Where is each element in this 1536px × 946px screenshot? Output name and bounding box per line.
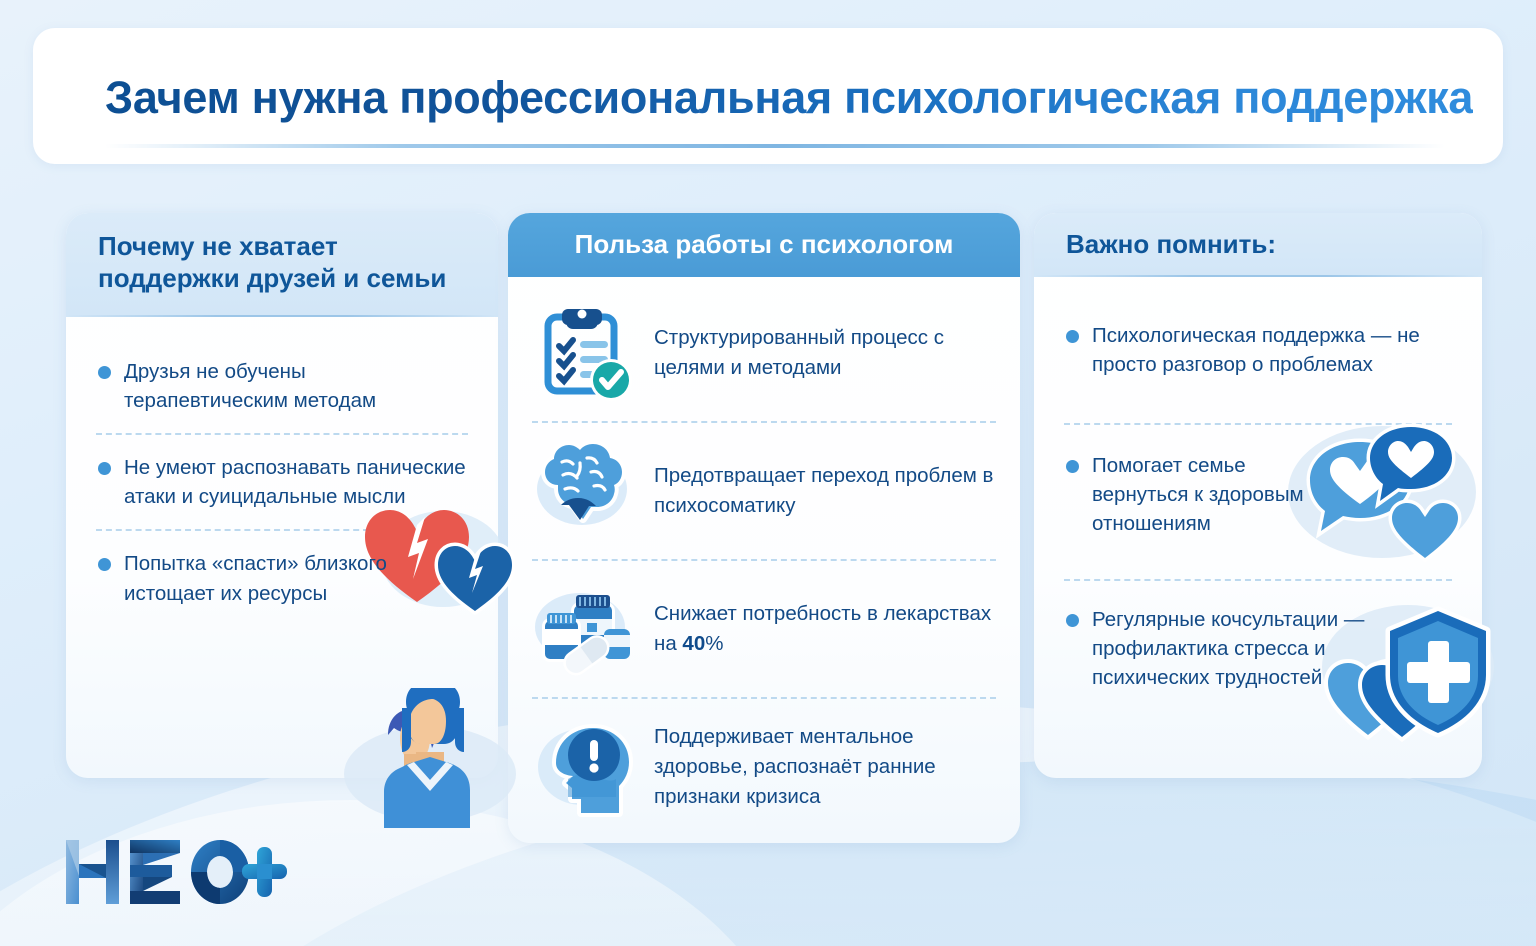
list-item: Попытка «спасти» близкого истощает их ре…: [94, 531, 470, 625]
clipboard-checklist-icon: [532, 301, 636, 405]
panel-why-friends-not-enough: Почему не хватает поддержки друзей и сем…: [66, 213, 498, 778]
list-item: Психологическая поддержка — не просто ра…: [1062, 303, 1454, 397]
bullet-dot-icon: [98, 462, 111, 475]
infographic-root: Зачем нужна профессиональная психологиче…: [0, 0, 1536, 946]
right-panel-list: Психологическая поддержка — не просто ра…: [1034, 277, 1482, 710]
bullet-dot-icon: [1066, 460, 1079, 473]
benefit-row: Поддерживает ментальное здоровье, распоз…: [508, 699, 1020, 835]
header-divider: [105, 144, 1445, 148]
benefit-row: Структурированный процесс с целями и мет…: [508, 277, 1020, 421]
list-item: Не умеют распознавать панические атаки и…: [94, 435, 470, 529]
panel-benefits-of-psychologist: Польза работы с психологом: [508, 213, 1020, 843]
benefit-label: Структурированный процесс с целями и мет…: [654, 323, 998, 382]
pills-bottles-icon: [532, 577, 636, 681]
logo-neo-plus: [62, 836, 292, 908]
panel-important-to-remember: Важно помнить: Психологическая поддержка…: [1034, 213, 1482, 778]
benefit-row: Снижает потребность в лекарствах на 40%: [508, 561, 1020, 697]
list-item-label: Регулярные кочсультации — профилактика с…: [1092, 605, 1392, 692]
logo-letter-e: [130, 840, 180, 904]
middle-panel-title: Польза работы с психологом: [575, 229, 954, 261]
page-title: Зачем нужна профессиональная психологиче…: [105, 72, 1473, 124]
bullet-dot-icon: [98, 558, 111, 571]
list-item: Друзья не обучены терапевтическим метода…: [94, 339, 470, 433]
bullet-dot-icon: [98, 366, 111, 379]
middle-panel-header: Польза работы с психологом: [508, 213, 1020, 277]
right-panel-title: Важно помнить:: [1066, 229, 1276, 261]
logo-plus: [242, 847, 287, 897]
right-panel-header: Важно помнить:: [1034, 213, 1482, 277]
left-panel-title: Почему не хватает поддержки друзей и сем…: [98, 231, 466, 294]
benefit-label: Снижает потребность в лекарствах на 40%: [654, 599, 998, 658]
list-item: Помогает семье вернуться к здоровым отно…: [1062, 425, 1454, 556]
bullet-dot-icon: [1066, 330, 1079, 343]
head-alert-icon: [532, 715, 636, 819]
list-item-label: Психологическая поддержка — не просто ра…: [1092, 321, 1454, 379]
brain-icon: [532, 439, 636, 543]
list-item-label: Попытка «спасти» близкого истощает их ре…: [124, 549, 470, 607]
benefit-label: Предотвращает переход проблем в психосом…: [654, 461, 998, 520]
list-item: Регулярные кочсультации — профилактика с…: [1062, 581, 1454, 710]
list-item-label: Друзья не обучены терапевтическим метода…: [124, 357, 470, 415]
logo-letter-n: [66, 840, 119, 904]
list-item-label: Помогает семье вернуться к здоровым отно…: [1092, 451, 1332, 538]
list-item-label: Не умеют распознавать панические атаки и…: [124, 453, 470, 511]
benefit-label: Поддерживает ментальное здоровье, распоз…: [654, 722, 998, 811]
logo-letter-o: [191, 840, 249, 904]
left-panel-header: Почему не хватает поддержки друзей и сем…: [66, 213, 498, 317]
benefit-row: Предотвращает переход проблем в психосом…: [508, 423, 1020, 559]
header-card: Зачем нужна профессиональная психологиче…: [33, 28, 1503, 164]
bullet-dot-icon: [1066, 614, 1079, 627]
left-panel-list: Друзья не обучены терапевтическим метода…: [66, 317, 498, 626]
